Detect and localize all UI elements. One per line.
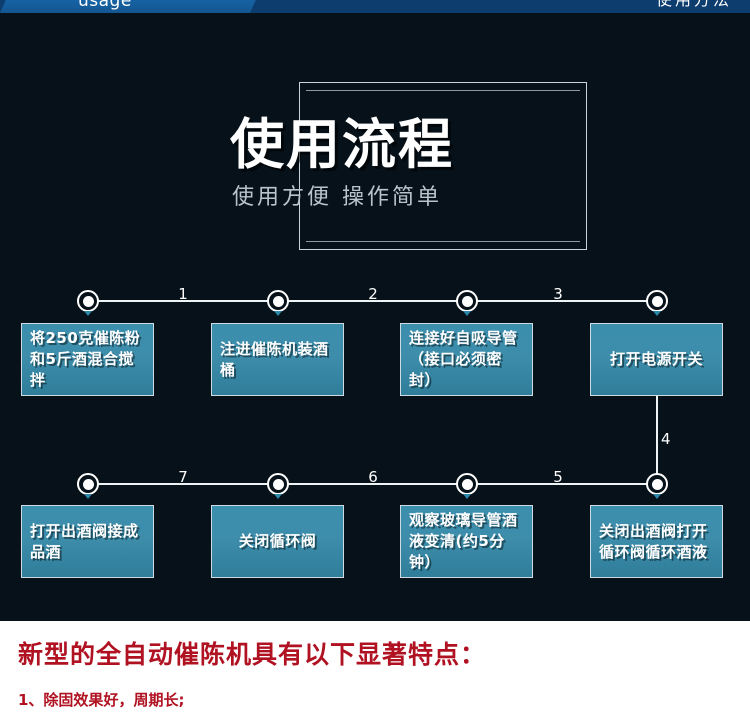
header-right-label: 使用方法 bbox=[656, 0, 732, 10]
node-tip-step-5 bbox=[653, 494, 661, 499]
process-box-step-1[interactable]: 将250克催陈粉和5斤酒混合搅拌 bbox=[21, 323, 154, 396]
process-box-step-4[interactable]: 打开电源开关 bbox=[590, 323, 723, 396]
node-step-1 bbox=[77, 290, 99, 312]
node-tip-step-3 bbox=[463, 311, 471, 316]
node-step-3 bbox=[456, 290, 478, 312]
process-box-step-5-text: 关闭出酒阀打开循环阀循环酒液 bbox=[599, 521, 714, 563]
features-section: 新型的全自动催陈机具有以下显著特点： 1、除固效果好，周期长; bbox=[0, 621, 750, 724]
connector-label-1: 1 bbox=[163, 286, 203, 302]
flow-stage: 使用流程 使用方便 操作简单 1 2 3 将250克催陈粉和5斤酒混合搅拌 注进… bbox=[0, 13, 750, 621]
process-box-step-2-text: 注进催陈机装酒桶 bbox=[220, 339, 335, 381]
connector-label-5: 5 bbox=[538, 469, 578, 485]
process-box-step-2[interactable]: 注进催陈机装酒桶 bbox=[211, 323, 344, 396]
node-tip-step-4 bbox=[653, 311, 661, 316]
process-box-step-6[interactable]: 观察玻璃导管酒液变清(约5分钟） bbox=[400, 505, 533, 578]
features-heading: 新型的全自动催陈机具有以下显著特点： bbox=[18, 638, 486, 672]
node-step-6 bbox=[456, 473, 478, 495]
process-box-step-7-text: 关闭循环阀 bbox=[239, 531, 317, 552]
connector-label-6: 6 bbox=[353, 469, 393, 485]
process-box-step-5[interactable]: 关闭出酒阀打开循环阀循环酒液 bbox=[590, 505, 723, 578]
node-step-4 bbox=[646, 290, 668, 312]
header-usage-label: usage bbox=[78, 0, 132, 11]
connector-label-3: 3 bbox=[538, 286, 578, 302]
node-tip-step-1 bbox=[84, 311, 92, 316]
process-box-step-1-text: 将250克催陈粉和5斤酒混合搅拌 bbox=[30, 328, 145, 391]
process-box-step-6-text: 观察玻璃导管酒液变清(约5分钟） bbox=[409, 510, 524, 573]
features-item-1: 1、除固效果好，周期长; bbox=[18, 689, 184, 711]
process-box-step-4-text: 打开电源开关 bbox=[610, 349, 703, 370]
process-box-step-8[interactable]: 打开出酒阀接成品酒 bbox=[21, 505, 154, 578]
connector-label-4: 4 bbox=[661, 431, 681, 447]
node-step-8 bbox=[77, 473, 99, 495]
node-step-5 bbox=[646, 473, 668, 495]
node-tip-step-7 bbox=[274, 494, 282, 499]
connector-label-2: 2 bbox=[353, 286, 393, 302]
process-flow-diagram: 1 2 3 将250克催陈粉和5斤酒混合搅拌 注进催陈机装酒桶 连接好自吸导管（… bbox=[0, 13, 750, 621]
connector-label-7: 7 bbox=[163, 469, 203, 485]
node-step-7 bbox=[267, 473, 289, 495]
process-box-step-7[interactable]: 关闭循环阀 bbox=[211, 505, 344, 578]
process-box-step-3[interactable]: 连接好自吸导管（接口必须密封） bbox=[400, 323, 533, 396]
node-tip-step-2 bbox=[274, 311, 282, 316]
node-tip-step-8 bbox=[84, 494, 92, 499]
page-header-strip: usage 使用方法 bbox=[0, 0, 750, 13]
process-box-step-3-text: 连接好自吸导管（接口必须密封） bbox=[409, 328, 524, 391]
node-step-2 bbox=[267, 290, 289, 312]
node-tip-step-6 bbox=[463, 494, 471, 499]
process-box-step-8-text: 打开出酒阀接成品酒 bbox=[30, 521, 145, 563]
